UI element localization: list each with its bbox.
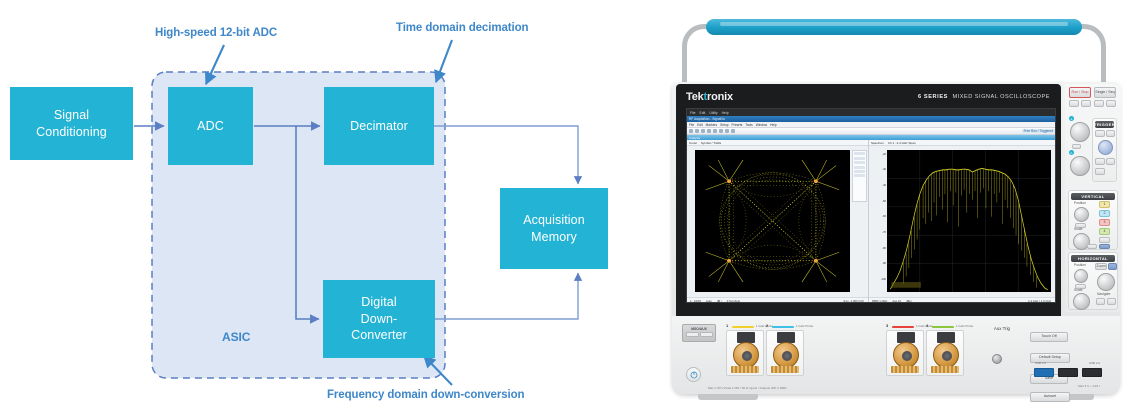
status-item: RBW 1 MHz — [872, 299, 887, 303]
menu-utility[interactable]: Utility — [709, 111, 717, 115]
mso-sub-row — [683, 332, 715, 337]
vertical-position-label: Position — [1074, 201, 1086, 205]
arrow-ddc-to-memory — [435, 273, 578, 319]
side-row[interactable] — [854, 152, 865, 155]
channel-a-indicator[interactable]: a — [1069, 116, 1074, 121]
spectrum-y-axis: -20 -30 -40 -50 -60 -70 -80 -90 -100 — [871, 150, 886, 292]
channel-3-color-bar — [892, 326, 914, 328]
window-title: RF Acquisition - SignalVu — [689, 117, 725, 121]
navigate-label: Navigate — [1097, 292, 1110, 296]
pane-subtitle: Ch 1 : 2.4 GHz Span — [888, 141, 916, 145]
channel-1-button[interactable]: 1 — [1099, 201, 1110, 208]
logo-part-1: Tek — [686, 91, 704, 103]
status-item: Avg 10 — [892, 299, 901, 303]
run-stop-button[interactable]: Run / Stop — [1069, 87, 1091, 98]
arrow-decimator-to-memory — [434, 126, 578, 184]
callout-label-decimation: Time domain decimation — [396, 22, 528, 34]
brand-strip: Tektronix 6 SERIES MIXED SIGNAL OSCILLOS… — [686, 90, 1056, 110]
channel-1-input-connector[interactable] — [726, 330, 764, 376]
channel-b-knob[interactable] — [1070, 156, 1090, 176]
channel-4-number: 4 — [926, 323, 928, 328]
mso-d15-d8-port[interactable] — [686, 332, 699, 337]
toolbar-icon-marker[interactable] — [713, 129, 717, 133]
channel-1-probe-label: 1 GHz Probe — [756, 324, 773, 328]
callout-label-downconversion: Frequency domain down-conversion — [327, 389, 524, 401]
horizontal-group: HORIZONTAL Position Scale Zoom Navigate — [1068, 252, 1118, 310]
usb3-port[interactable] — [1034, 368, 1054, 377]
status-item: Auto — [706, 299, 712, 303]
status-item: dB / — [717, 299, 722, 303]
y-tick: -90 — [882, 262, 886, 265]
bnc-connector[interactable] — [933, 342, 959, 368]
block-label: Digital Down- Converter — [351, 294, 407, 344]
status-item: 0 Symbols — [727, 299, 740, 303]
y-tick: -60 — [882, 215, 886, 218]
aux-trig-label: Aux Trig — [994, 326, 1010, 331]
constellation-statusbar: 1 : 100% Auto dB / 0 Symbols Sym -1.000 … — [687, 297, 868, 303]
pane-subtitle: Symbol / Trellis — [701, 141, 721, 145]
channel-4-color-bar — [932, 326, 954, 328]
mso-d7-d0-port[interactable] — [700, 332, 713, 337]
probe-interface-contacts — [731, 366, 759, 373]
toolbar-icon-save[interactable] — [695, 129, 699, 133]
single-seq-button[interactable]: Single / Seq — [1094, 87, 1116, 98]
plot-panes: Const Symbol / Trellis — [687, 140, 1055, 303]
trigger-slope-button[interactable] — [1095, 158, 1105, 165]
trigger-section-header: TRIGGER — [1095, 121, 1114, 128]
pane-header[interactable]: Spectrum Ch 1 : 2.4 GHz Span — [869, 140, 1055, 146]
block-signal-conditioning: Signal Conditioning — [10, 87, 133, 160]
app-menu-presets[interactable]: Presets — [732, 123, 743, 127]
app-menu-setup[interactable]: Setup — [720, 123, 728, 127]
toolbar-icon-open[interactable] — [689, 129, 693, 133]
block-label: ADC — [197, 118, 224, 135]
constellation-diagram[interactable] — [695, 150, 850, 292]
search-mark-button[interactable] — [1108, 263, 1117, 270]
horizontal-position-label: Position — [1074, 263, 1086, 267]
input-rating-footnote: Max V 50 V Peak 1 MΩ / 50 Ω Inputs / Out… — [708, 386, 786, 390]
status-footer: 2.4 GHz / 1.0 GHz — [1028, 299, 1051, 303]
usb2-port-label: USB 2.0 — [1089, 361, 1100, 365]
channel-a-fine-button[interactable] — [1072, 144, 1081, 149]
touch-off-button[interactable]: Touch Off — [1030, 332, 1068, 342]
zoom-button[interactable] — [1094, 100, 1104, 107]
channel-3-button[interactable]: 3 — [1099, 219, 1110, 226]
block-digital-down-converter: Digital Down- Converter — [323, 280, 435, 358]
trigger-mode-button[interactable] — [1106, 130, 1115, 137]
channel-4-probe-label: 1 GHz Probe — [956, 324, 973, 328]
block-label: Signal Conditioning — [36, 107, 107, 140]
menu-edit[interactable]: Edit — [699, 111, 705, 115]
block-diagram: High-speed 12-bit ADC Time domain decima… — [0, 0, 640, 414]
trigger-source-button[interactable] — [1095, 168, 1105, 175]
app-menu-help[interactable]: Help — [770, 123, 777, 127]
navigate-next-button[interactable] — [1107, 298, 1116, 305]
block-label: Acquisition Memory — [523, 212, 585, 245]
horizontal-position-knob[interactable] — [1074, 269, 1088, 283]
probe-interface-contacts — [931, 366, 959, 373]
pane-constellation: Const Symbol / Trellis — [687, 140, 869, 303]
spectrum-plot[interactable] — [887, 150, 1051, 292]
status-item: 1 : 100% — [690, 299, 701, 303]
toolbar-icon-pause[interactable] — [707, 129, 711, 133]
probe-interface-contacts — [891, 366, 919, 373]
chassis-foot-left — [698, 393, 758, 400]
vertical-group: VERTICAL Position Scale 1 2 3 4 — [1068, 190, 1118, 250]
power-icon — [690, 371, 698, 379]
side-row[interactable] — [854, 170, 865, 173]
channel-1-color-bar — [732, 326, 754, 328]
block-acquisition-memory: Acquisition Memory — [500, 188, 608, 269]
app-menu-file[interactable]: File — [689, 123, 694, 127]
toolbar-icon-zoom[interactable] — [725, 129, 729, 133]
channel-3-number: 3 — [886, 323, 888, 328]
tektronix-logo: Tektronix — [686, 91, 733, 103]
menu-help[interactable]: Help — [722, 111, 729, 115]
front-panel-controls: Run / Stop Single / Seq a b TRIGGER — [1065, 84, 1121, 312]
cursors-button[interactable] — [1106, 100, 1116, 107]
vertical-scale-label: Scale — [1074, 227, 1082, 231]
bnc-connector[interactable] — [773, 342, 799, 368]
mso-label: MSO/AUX — [683, 327, 715, 331]
app-menu-tools[interactable]: Tools — [745, 123, 752, 127]
side-row[interactable] — [854, 157, 865, 160]
app-menu-window[interactable]: Window — [756, 123, 767, 127]
status-footer: Sym -1.000 (I/Q) — [843, 299, 864, 303]
carry-handle-grip[interactable] — [706, 19, 1082, 35]
logo-part-2: ronix — [707, 91, 733, 103]
spectrum-marker-readout — [891, 282, 921, 288]
zoom-toggle-button[interactable]: Zoom — [1095, 263, 1107, 270]
navigate-prev-button[interactable] — [1096, 298, 1105, 305]
usb2-port-a[interactable] — [1058, 368, 1078, 377]
side-row[interactable] — [854, 174, 865, 177]
channel-2-button[interactable]: 2 — [1099, 210, 1110, 217]
pane-header[interactable]: Const Symbol / Trellis — [687, 140, 868, 146]
channel-b-indicator[interactable]: b — [1069, 150, 1074, 155]
toolbar-icon-cursor[interactable] — [731, 129, 735, 133]
channel-and-trigger-group: a b TRIGGER — [1068, 116, 1118, 188]
oscilloscope-photo: Tektronix 6 SERIES MIXED SIGNAL OSCILLOS… — [650, 0, 1146, 414]
horizontal-scale-knob[interactable] — [1073, 293, 1090, 310]
horizontal-scale-label: Scale — [1074, 288, 1082, 292]
channel-4-input-connector[interactable] — [926, 330, 964, 376]
channel-2-input-connector[interactable] — [766, 330, 804, 376]
callout-line-decimation — [436, 40, 452, 82]
y-tick: -20 — [882, 153, 886, 156]
side-row[interactable] — [854, 161, 865, 164]
clear-button[interactable] — [1069, 100, 1079, 107]
asic-region-label: ASIC — [222, 330, 250, 344]
probe-interface-contacts — [771, 366, 799, 373]
ref-button[interactable] — [1087, 244, 1097, 249]
mso-aux-module[interactable]: MSO/AUX — [682, 324, 716, 342]
y-tick: -30 — [882, 168, 886, 171]
bus-button[interactable] — [1099, 244, 1110, 249]
spectrum-envelope — [890, 168, 1047, 289]
y-tick: -70 — [882, 231, 886, 234]
callout-label-adc: High-speed 12-bit ADC — [155, 27, 277, 39]
navigate-knob[interactable] — [1097, 273, 1115, 291]
y-tick: -80 — [882, 247, 886, 250]
trigger-edge-icon-button[interactable] — [1106, 158, 1115, 165]
pane-title: Spectrum — [871, 141, 884, 145]
spectrum-noise-spikes — [903, 169, 1036, 288]
y-tick: -100 — [881, 278, 886, 281]
model-name: MIXED SIGNAL OSCILLOSCOPE — [953, 94, 1050, 100]
pane-title: Const — [689, 141, 697, 145]
caution-footnote: Max 5 V ~ CAT I — [1078, 384, 1100, 388]
trigger-group: TRIGGER — [1092, 118, 1117, 182]
channel-3-input-connector[interactable] — [886, 330, 924, 376]
scope-menubar[interactable]: File Edit Utility Help — [687, 109, 1055, 116]
block-label: Decimator — [350, 118, 408, 135]
acquisition-button-group: Run / Stop Single / Seq — [1068, 86, 1118, 114]
force-trigger-button[interactable] — [1095, 130, 1105, 137]
bnc-connector[interactable] — [733, 342, 759, 368]
math-button[interactable] — [1099, 237, 1110, 243]
spectrum-statusbar: RBW 1 MHz Avg 10 dBm 2.4 GHz / 1.0 GHz — [869, 297, 1055, 303]
vertical-section-header: VERTICAL — [1071, 193, 1115, 200]
app-menu-markers[interactable]: Markers — [706, 123, 718, 127]
spectrum-trace — [887, 150, 1051, 292]
menu-file[interactable]: File — [690, 111, 695, 115]
autoset-button[interactable]: Autoset — [1030, 392, 1070, 402]
aux-trig-connector[interactable] — [992, 354, 1002, 364]
usb3-port-label: USB 3.0 — [1035, 361, 1046, 365]
channel-3-probe-label: 1 GHz Probe — [916, 324, 933, 328]
fastacq-button[interactable] — [1081, 100, 1091, 107]
page-root: High-speed 12-bit ADC Time domain decima… — [0, 0, 1146, 414]
trigger-level-knob[interactable] — [1098, 140, 1113, 155]
power-button[interactable] — [686, 367, 701, 382]
toolbar-icon-gear[interactable] — [719, 129, 723, 133]
y-tick: -40 — [882, 184, 886, 187]
document-tab[interactable]: Analysis — [689, 136, 700, 140]
bnc-connector[interactable] — [893, 342, 919, 368]
constellation-trace — [695, 150, 850, 292]
channel-2-color-bar — [772, 326, 794, 328]
channel-a-knob[interactable] — [1070, 122, 1090, 142]
channel-1-number: 1 — [726, 323, 728, 328]
pane-spectrum: Spectrum Ch 1 : 2.4 GHz Span -20 -30 -40… — [869, 140, 1055, 303]
usb2-port-b[interactable] — [1082, 368, 1102, 377]
constellation-side-toolbar[interactable] — [852, 150, 867, 202]
acquisition-mode-tag[interactable]: Free Run / Triggered — [1022, 129, 1055, 133]
status-item: dBm — [906, 299, 912, 303]
channel-4-button[interactable]: 4 — [1099, 228, 1110, 235]
toolbar-icon-run[interactable] — [701, 129, 705, 133]
app-menu-edit[interactable]: Edit — [697, 123, 703, 127]
front-input-panel: MSO/AUX 1 1 GHz Probe 2 1 GHz Probe — [672, 316, 1120, 394]
channel-2-number: 2 — [766, 323, 768, 328]
horizontal-section-header: HORIZONTAL — [1071, 255, 1115, 262]
series-badge: 6 SERIES — [918, 94, 948, 100]
block-adc: ADC — [168, 87, 253, 165]
block-decimator: Decimator — [324, 87, 434, 165]
display-screen[interactable]: File Edit Utility Help RF Acquisition - … — [686, 108, 1056, 303]
channel-2-probe-label: 1 GHz Probe — [796, 324, 813, 328]
vertical-position-knob[interactable] — [1074, 207, 1089, 222]
y-tick: -50 — [882, 200, 886, 203]
app-toolbar[interactable]: Free Run / Triggered — [687, 128, 1055, 135]
side-row[interactable] — [854, 166, 865, 169]
